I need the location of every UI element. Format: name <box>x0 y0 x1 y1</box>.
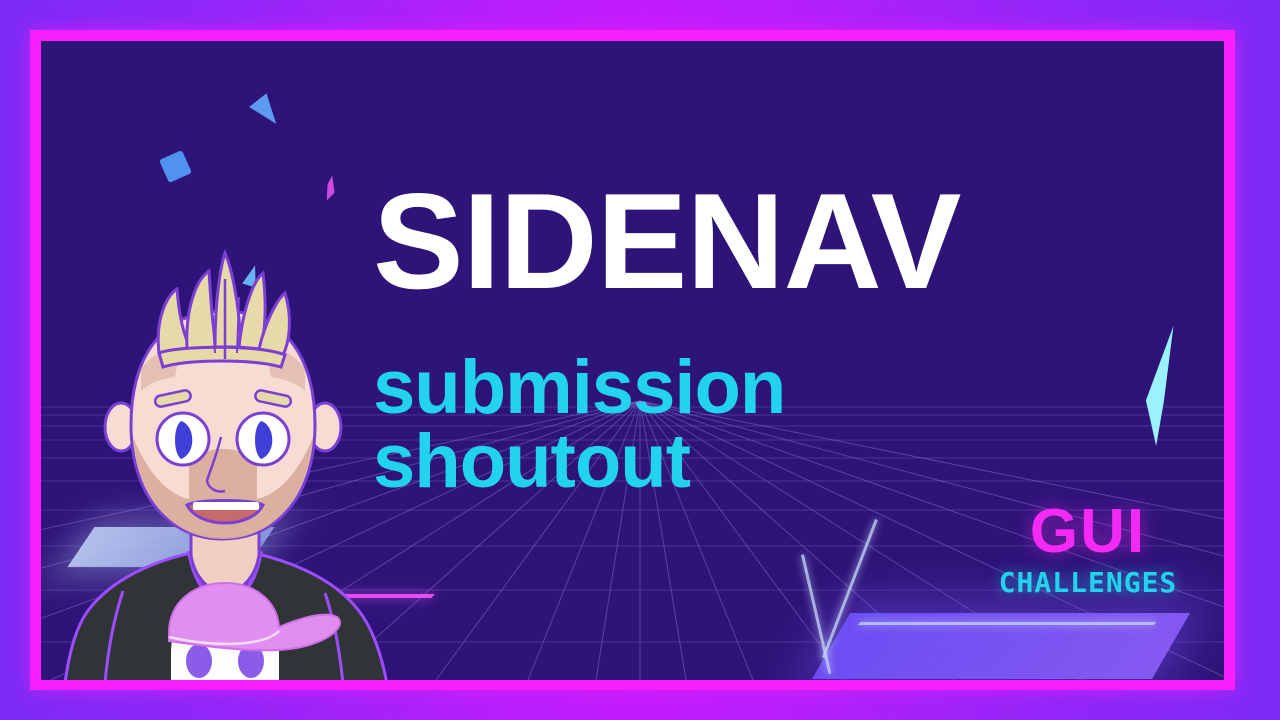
confetti-shard-pink-icon <box>323 175 335 200</box>
grid-tile-glow-right <box>812 613 1190 679</box>
page-title: SIDENAV <box>373 173 960 309</box>
confetti-square-blue-icon <box>159 150 192 183</box>
video-thumbnail: SIDENAV submission shoutout GUI CHALLENG… <box>0 0 1280 720</box>
grid-streak-right-horizontal <box>858 622 1157 625</box>
thumbnail-content-panel: SIDENAV submission shoutout GUI CHALLENG… <box>41 41 1224 680</box>
subtitle-line-1: submission <box>373 351 785 425</box>
confetti-shard-cyan-glow-icon <box>1144 326 1176 446</box>
subtitle: submission shoutout <box>373 351 785 500</box>
brand-logo-lockup: GUI CHALLENGES <box>963 501 1213 597</box>
avatar-illustration <box>63 249 423 680</box>
avatar-mohawk-hair <box>158 253 289 367</box>
grid-streak-right-inner <box>801 554 831 674</box>
brand-name: GUI <box>963 501 1213 563</box>
grid-streak-right-diagonal <box>822 519 878 658</box>
brand-tagline: CHALLENGES <box>963 569 1213 597</box>
confetti-triangle-blue-icon <box>249 93 285 130</box>
subtitle-line-2: shoutout <box>373 425 785 499</box>
